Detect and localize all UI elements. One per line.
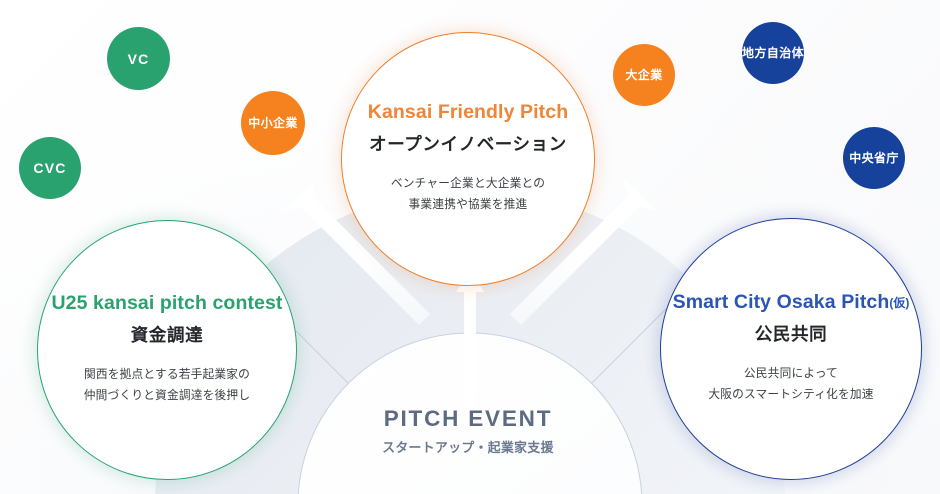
circle-u25-kansai-pitch-contest[interactable]: U25 kansai pitch contest 資金調達 関西を拠点とする若手… <box>37 220 297 480</box>
circle-description-line: ベンチャー企業と大企業との <box>391 174 545 194</box>
circle-description: ベンチャー企業と大企業との 事業連携や協業を推進 <box>391 174 545 215</box>
circle-description-line: 関西を拠点とする若手起業家の <box>84 365 250 385</box>
bubble-local-government[interactable]: 地方自治体 <box>742 22 804 84</box>
bubble-central-ministry[interactable]: 中央省庁 <box>843 127 905 189</box>
circle-subtitle: オープンイノベーション <box>369 136 567 154</box>
circle-subtitle: 公民共同 <box>755 326 827 344</box>
bubble-label: 中央省庁 <box>849 152 899 164</box>
circle-title-sup: (仮) <box>889 296 909 310</box>
pitch-event-subtitle: スタートアップ・起業家支援 <box>368 442 568 455</box>
circle-title: Smart City Osaka Pitch(仮) <box>673 293 910 313</box>
bubble-large-enterprise[interactable]: 大企業 <box>613 44 675 106</box>
circle-title: Kansai Friendly Pitch <box>368 103 568 123</box>
circle-description-line: 事業連携や協業を推進 <box>391 195 545 215</box>
circle-title-text: Kansai Friendly Pitch <box>368 101 568 123</box>
circle-description: 公民共同によって 大阪のスマートシティ化を加速 <box>708 364 873 405</box>
bubble-cvc[interactable]: CVC <box>19 137 81 199</box>
pitch-event-title: PITCH EVENT <box>368 408 568 431</box>
circle-description-line: 大阪のスマートシティ化を加速 <box>708 385 873 405</box>
bubble-label: 中小企業 <box>248 117 298 129</box>
circle-description-line: 仲間づくりと資金調達を後押し <box>84 386 250 406</box>
circle-title-text: U25 kansai pitch contest <box>51 292 282 314</box>
circle-title: U25 kansai pitch contest <box>51 294 282 314</box>
bubble-small-medium-enterprise[interactable]: 中小企業 <box>241 91 305 155</box>
bubble-label: 大企業 <box>625 69 662 81</box>
bubble-label: CVC <box>33 161 66 175</box>
bubble-label: 地方自治体 <box>742 47 804 59</box>
pitch-event-center-label: PITCH EVENT スタートアップ・起業家支援 <box>368 408 568 454</box>
circle-description: 関西を拠点とする若手起業家の 仲間づくりと資金調達を後押し <box>84 365 250 406</box>
circle-smart-city-osaka-pitch[interactable]: Smart City Osaka Pitch(仮) 公民共同 公民共同によって … <box>660 218 922 480</box>
diagram-canvas: Kansai Friendly Pitch オープンイノベーション ベンチャー企… <box>0 0 940 494</box>
circle-title-text: Smart City Osaka Pitch <box>673 291 890 313</box>
bubble-vc[interactable]: VC <box>107 27 170 90</box>
circle-description-line: 公民共同によって <box>708 364 873 384</box>
bubble-label: VC <box>128 52 150 66</box>
circle-kansai-friendly-pitch[interactable]: Kansai Friendly Pitch オープンイノベーション ベンチャー企… <box>341 32 595 286</box>
circle-subtitle: 資金調達 <box>131 327 203 345</box>
